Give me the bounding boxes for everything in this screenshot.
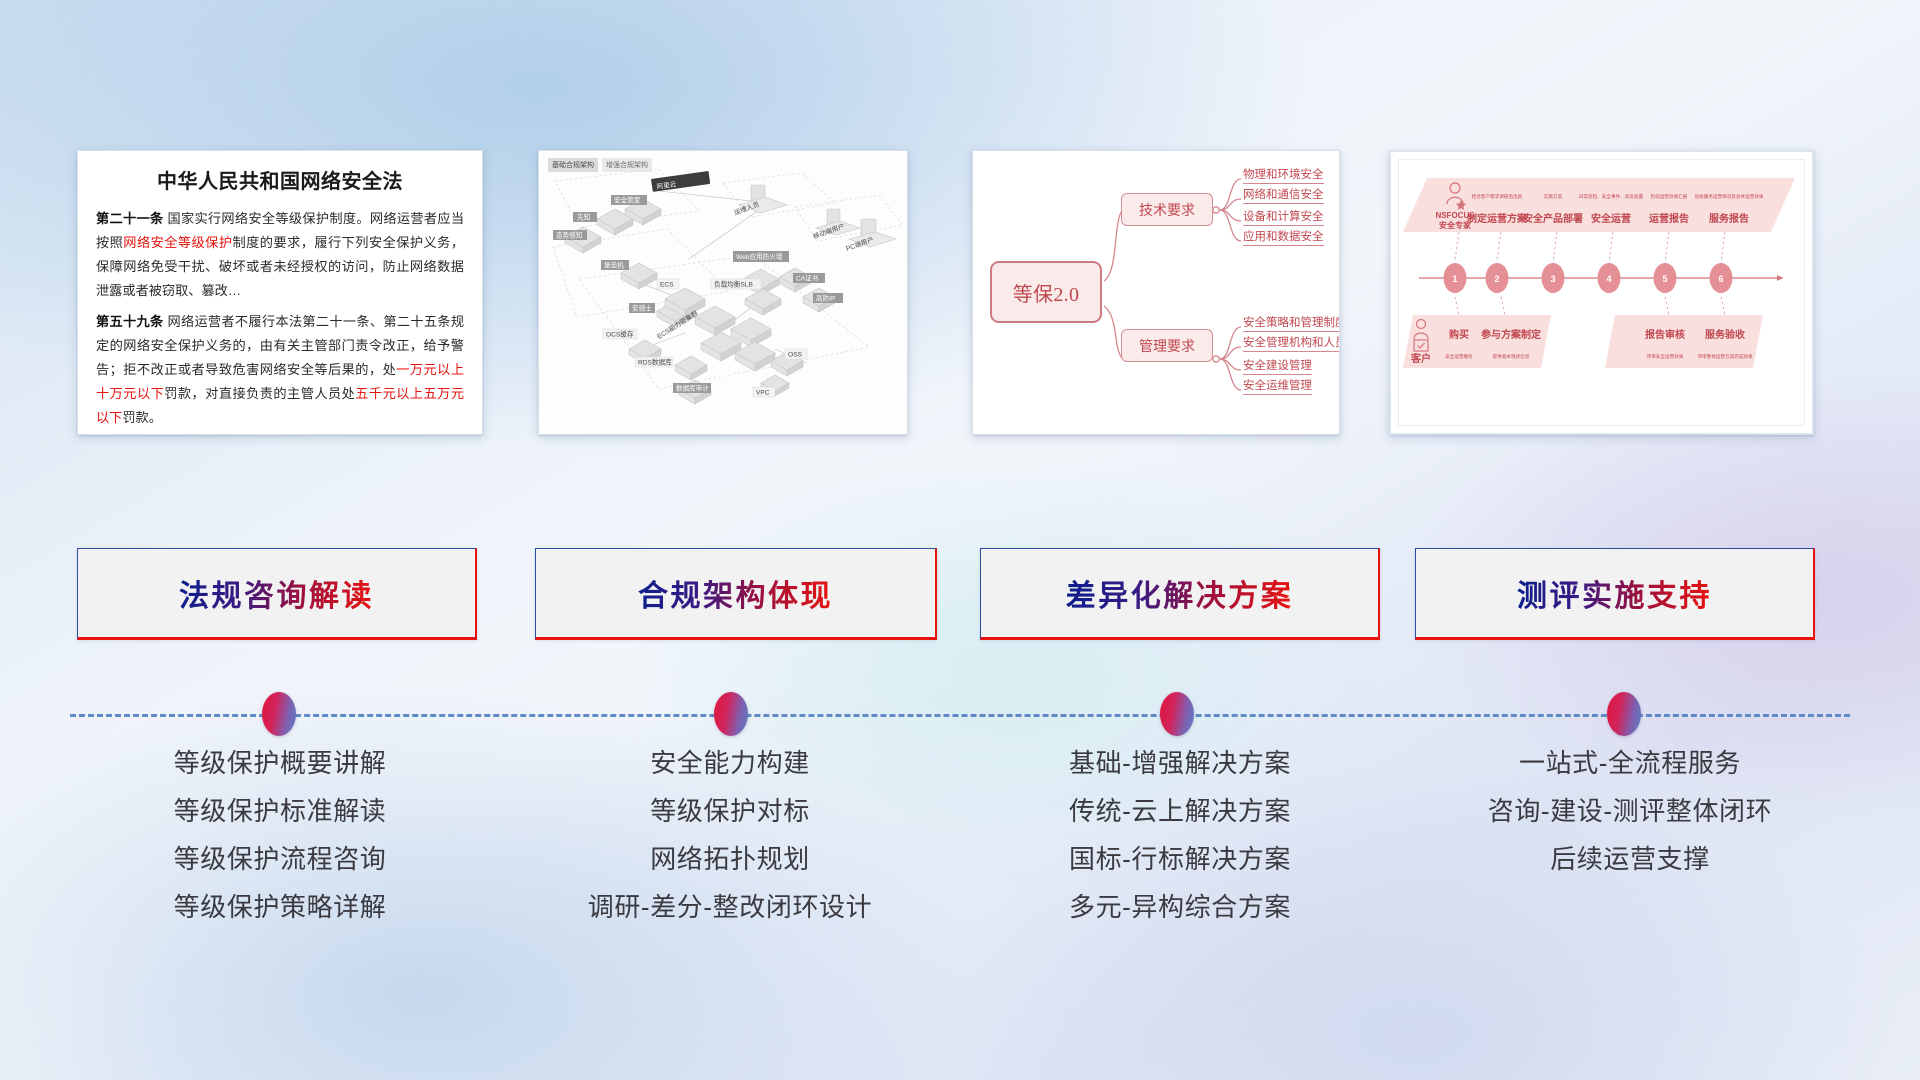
arch-node-label-waf: Web应用防火墙 <box>736 252 783 261</box>
nsfocus-step-6: 6 <box>1718 274 1723 284</box>
list-item: 等级保护策略详解 <box>60 884 500 932</box>
arch-node-label-anti-ddos: 高防IP <box>816 294 836 303</box>
header-label-1: 法规咨询解读 <box>179 571 374 615</box>
nsfocus-step-5: 5 <box>1662 274 1667 284</box>
law-title: 中华人民共和国网络安全法 <box>96 165 464 194</box>
list-item: 调研-差分-整改闭环设计 <box>510 884 950 932</box>
architecture-diagram: 基础合规架构 增强合规架构 <box>539 151 907 434</box>
nsfocus-bottom-title-4: 服务验收 <box>1705 328 1745 341</box>
arch-node-label-bastion: 堡垒机 <box>604 261 624 270</box>
timeline-dashed-line <box>70 714 1850 717</box>
arch-node-label-situational: 态势感知 <box>556 231 582 240</box>
card-nsfocus-timeline[interactable]: 1 2 3 4 5 6 NSFOCUS 安全专家 <box>1389 150 1814 435</box>
timeline-dot-1[interactable] <box>262 692 296 736</box>
list-item: 传统-云上解决方案 <box>960 788 1400 836</box>
arch-node-label-ca: CA证书 <box>796 274 819 283</box>
arch-node-label-ocs: OCS缓存 <box>606 330 634 339</box>
arch-node-label-db-audit: 数据库审计 <box>676 384 709 393</box>
arch-node-label-rds: RDS数据库 <box>638 358 672 367</box>
law-body: 中华人民共和国网络安全法 第二十一条 国家实行网络安全等级保护制度。网络运营者应… <box>78 151 482 435</box>
list-item: 等级保护流程咨询 <box>60 836 500 884</box>
list-item: 安全能力构建 <box>510 740 950 788</box>
mindmap-leaf-mgmt-3: 安全建设管理 <box>1243 360 1312 375</box>
nsfocus-top-sub-3: 日常巡检、安全事件、高危处置 <box>1579 193 1644 200</box>
header-regulation-consulting[interactable]: 法规咨询解读 <box>77 548 477 640</box>
header-label-4: 测评实施支持 <box>1517 571 1712 615</box>
nsfocus-bottom-sub-3: 评审安全运营效果 <box>1647 353 1684 360</box>
arch-node-label-ops: 运维人员 <box>733 199 761 217</box>
arch-node-label-slb: 负载均衡SLB <box>714 280 753 289</box>
mindmap-root-node[interactable]: 等保2.0 <box>990 261 1102 323</box>
list-item: 后续运营支撑 <box>1400 836 1860 884</box>
nsfocus-bottom-title-1: 购买 <box>1449 328 1469 341</box>
nsfocus-top-title-5: 服务报告 <box>1709 212 1749 225</box>
arch-node-label-ecs: ECS <box>660 282 674 289</box>
card-cloud-architecture[interactable]: 基础合规架构 增强合规架构 <box>538 150 908 435</box>
nsfocus-top-title-3: 安全运营 <box>1591 212 1631 225</box>
list-item: 等级保护标准解读 <box>60 788 500 836</box>
nsfocus-diagram: 1 2 3 4 5 6 NSFOCUS 安全专家 <box>1390 151 1813 434</box>
mindmap-leaf-mgmt-4: 安全运维管理 <box>1243 380 1312 395</box>
nsfocus-top-title-4: 运营报告 <box>1649 212 1689 225</box>
header-evaluation-support[interactable]: 测评实施支持 <box>1415 548 1815 640</box>
nsfocus-step-1: 1 <box>1452 274 1457 284</box>
mindmap-leaf-mgmt-2: 安全管理机构和人员 <box>1243 337 1340 352</box>
nsfocus-top-title-1: 制定运营方案 <box>1467 212 1528 225</box>
nsfocus-svg: 1 2 3 4 5 6 NSFOCUS 安全专家 <box>1391 152 1814 435</box>
arch-node-label-oss: OSS <box>788 352 803 359</box>
arch-node-label-steward: 安全管家 <box>614 196 641 205</box>
article-59-text-c: 罚款。 <box>122 410 162 425</box>
article-21-label: 第二十一条 <box>96 211 163 226</box>
card-mindmap-dengbao[interactable]: 等保2.0 技术要求 管理要求 物理和环境安全 网络和通信安全 设备和计算安全 … <box>972 150 1340 435</box>
nsfocus-top-title-2: 安全产品部署 <box>1523 212 1583 225</box>
law-article-21: 第二十一条 国家实行网络安全等级保护制度。网络运营者应当按照网络安全等级保护制度… <box>96 207 464 303</box>
article-21-highlight: 网络安全等级保护 <box>123 235 232 250</box>
article-59-label: 第五十九条 <box>96 314 163 329</box>
header-label-2: 合规架构体现 <box>638 571 833 615</box>
header-compliance-architecture[interactable]: 合规架构体现 <box>535 548 937 640</box>
list-item: 等级保护概要讲解 <box>60 740 500 788</box>
mindmap-leaf-tech-3: 设备和计算安全 <box>1243 211 1324 226</box>
header-label-3: 差异化解决方案 <box>1066 571 1294 615</box>
detail-list-regulation: 等级保护概要讲解 等级保护标准解读 等级保护流程咨询 等级保护策略详解 <box>60 740 500 932</box>
list-item: 基础-增强解决方案 <box>960 740 1400 788</box>
arch-node-label-anqishi: 安骑士 <box>632 304 652 313</box>
mindmap-leaf-tech-1: 物理和环境安全 <box>1243 169 1324 184</box>
list-item: 一站式-全流程服务 <box>1400 740 1860 788</box>
architecture-svg: 阿里云 态势感知 先知 安全管家 堡垒机 安骑士 ECS OCS缓存 <box>539 151 908 435</box>
top-cards-row: 中华人民共和国网络安全法 第二十一条 国家实行网络安全等级保护制度。网络运营者应… <box>0 150 1920 440</box>
arch-node-label-vpc: VPC <box>756 390 770 397</box>
nsfocus-step-2: 2 <box>1494 274 1499 284</box>
nsfocus-step-3: 3 <box>1550 274 1555 284</box>
nsfocus-bottom-title-2: 参与方案制定 <box>1481 328 1541 341</box>
list-item: 多元-异构综合方案 <box>960 884 1400 932</box>
nsfocus-top-sub-4: 阶段运营效果汇报 <box>1651 193 1688 200</box>
article-59-text-b: 罚款，对直接负责的主管人员处 <box>164 386 355 401</box>
nsfocus-customer-label: 客户 <box>1410 352 1431 365</box>
mindmap-leaf-mgmt-1: 安全策略和管理制度 <box>1243 317 1340 332</box>
nsfocus-bottom-title-3: 报告审核 <box>1645 328 1685 341</box>
nsfocus-step-4: 4 <box>1606 274 1611 284</box>
arch-node-label-sense: 先知 <box>577 213 590 222</box>
timeline-connector <box>70 690 1850 740</box>
header-differentiated-solution[interactable]: 差异化解决方案 <box>980 548 1380 640</box>
section-headers-row: 法规咨询解读 合规架构体现 差异化解决方案 测评实施支持 <box>0 548 1920 648</box>
detail-list-solution: 基础-增强解决方案 传统-云上解决方案 国标-行标解决方案 多元-异构综合方案 <box>960 740 1400 932</box>
mindmap-diagram: 等保2.0 技术要求 管理要求 物理和环境安全 网络和通信安全 设备和计算安全 … <box>973 151 1339 434</box>
nsfocus-bottom-sub-2: 提供基本现状信息 <box>1493 353 1530 360</box>
list-item: 等级保护对标 <box>510 788 950 836</box>
nsfocus-top-sub-1: 结合客户需求调研后出具 <box>1472 193 1523 200</box>
detail-list-architecture: 安全能力构建 等级保护对标 网络拓扑规划 调研-差分-整改闭环设计 <box>510 740 950 932</box>
list-item: 国标-行标解决方案 <box>960 836 1400 884</box>
nsfocus-top-sub-2: 实施方案 <box>1544 193 1563 200</box>
mindmap-leaf-tech-2: 网络和通信安全 <box>1243 189 1324 204</box>
nsfocus-bottom-sub-4: 评审整体运营方案完成效果 <box>1697 353 1753 360</box>
detail-list-evaluation: 一站式-全流程服务 咨询-建设-测评整体闭环 后续运营支撑 <box>1400 740 1860 884</box>
card-cybersecurity-law[interactable]: 中华人民共和国网络安全法 第二十一条 国家实行网络安全等级保护制度。网络运营者应… <box>77 150 483 435</box>
nsfocus-top-sub-5: 验收服务运营情况及总体运营效果 <box>1695 193 1764 200</box>
mindmap-leaf-tech-4: 应用和数据安全 <box>1243 231 1324 246</box>
timeline-dot-4[interactable] <box>1607 692 1641 736</box>
mindmap-branch-management[interactable]: 管理要求 <box>1121 329 1213 362</box>
mindmap-branch-technical[interactable]: 技术要求 <box>1121 193 1213 226</box>
timeline-dot-3[interactable] <box>1160 692 1194 736</box>
timeline-dot-2[interactable] <box>714 692 748 736</box>
detail-lists-row: 等级保护概要讲解 等级保护标准解读 等级保护流程咨询 等级保护策略详解 安全能力… <box>0 740 1920 960</box>
list-item: 网络拓扑规划 <box>510 836 950 884</box>
list-item: 咨询-建设-测评整体闭环 <box>1400 788 1860 836</box>
law-article-59: 第五十九条 网络运营者不履行本法第二十一条、第二十五条规定的网络安全保护义务的，… <box>96 310 464 430</box>
nsfocus-bottom-sub-1: 安全运营服务 <box>1445 353 1473 360</box>
